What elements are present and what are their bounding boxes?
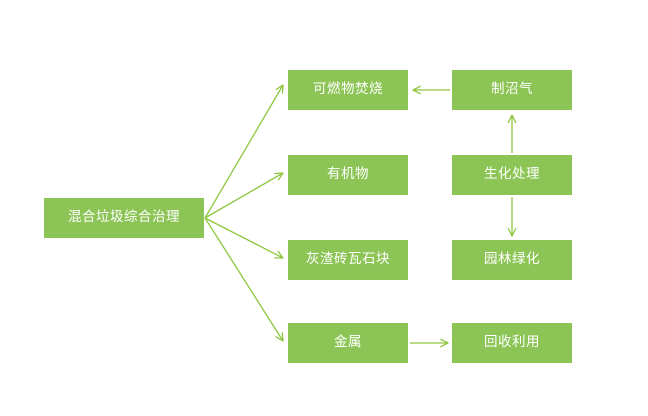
node-ash-bricks-tiles-stone-label: 灰渣砖瓦石块 xyxy=(306,253,390,267)
node-combustible-incineration-label: 可燃物焚烧 xyxy=(313,83,383,97)
node-biogas-production[interactable]: 制沼气 xyxy=(452,70,572,110)
node-landscaping[interactable]: 园林绿化 xyxy=(452,240,572,280)
node-organic-matter[interactable]: 有机物 xyxy=(288,155,408,195)
node-landscaping-label: 园林绿化 xyxy=(484,253,540,267)
node-biochemical-treatment-label: 生化处理 xyxy=(484,168,540,182)
node-organic-matter-label: 有机物 xyxy=(327,168,369,182)
node-metal[interactable]: 金属 xyxy=(288,323,408,363)
edge-root-to-ash xyxy=(205,218,283,258)
node-biochemical-treatment[interactable]: 生化处理 xyxy=(452,155,572,195)
node-biogas-production-label: 制沼气 xyxy=(491,83,533,97)
edge-root-to-metal xyxy=(205,218,283,341)
flow-diagram: 混合垃圾综合治理 可燃物焚烧 有机物 灰渣砖瓦石块 金属 制沼气 生化处理 园林… xyxy=(0,0,648,416)
node-ash-bricks-tiles-stone[interactable]: 灰渣砖瓦石块 xyxy=(288,240,408,280)
node-metal-label: 金属 xyxy=(334,336,362,350)
edge-root-to-org xyxy=(205,173,283,218)
node-recycling-reuse[interactable]: 回收利用 xyxy=(452,323,572,363)
node-root[interactable]: 混合垃圾综合治理 xyxy=(44,198,204,238)
edge-root-to-burn xyxy=(205,85,283,218)
node-recycling-reuse-label: 回收利用 xyxy=(484,336,540,350)
node-combustible-incineration[interactable]: 可燃物焚烧 xyxy=(288,70,408,110)
node-root-label: 混合垃圾综合治理 xyxy=(68,211,180,225)
